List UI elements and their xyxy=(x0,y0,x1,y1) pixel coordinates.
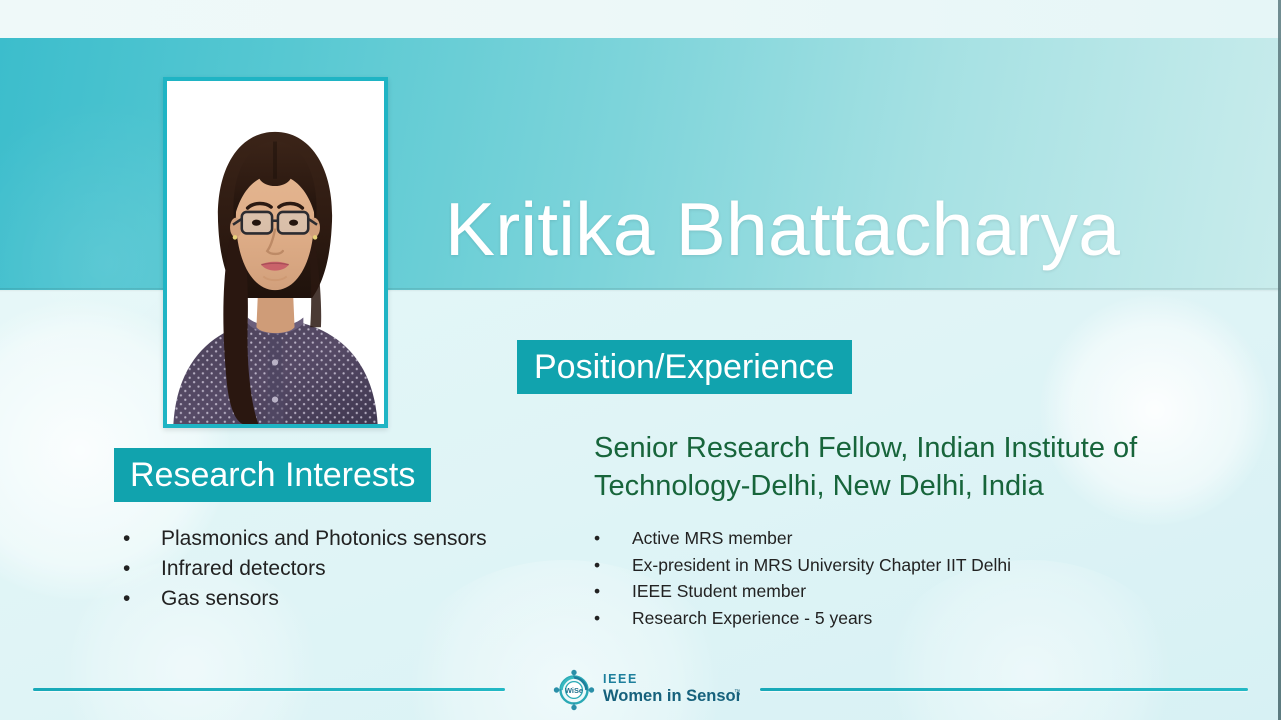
portrait-illustration xyxy=(167,81,384,424)
section-badge-research: Research Interests xyxy=(114,448,431,502)
list-item: Gas sensors xyxy=(114,584,487,614)
logo-ieee-text: IEEE xyxy=(603,672,638,686)
logo-artwork: WiSe IEEE Women in Sensors ™ xyxy=(548,666,740,714)
section-badge-position: Position/Experience xyxy=(517,340,852,394)
list-item: IEEE Student member xyxy=(585,578,1011,605)
footer-rule-right xyxy=(760,688,1248,691)
slide-canvas: Kritika Bhattacharya xyxy=(0,0,1281,720)
logo-women-in-sensors-text: Women in Sensors xyxy=(603,687,740,705)
portrait-photo xyxy=(163,77,388,428)
section-badge-position-label: Position/Experience xyxy=(534,350,835,384)
list-item: Plasmonics and Photonics sensors xyxy=(114,524,487,554)
page-title: Kritika Bhattacharya xyxy=(445,192,1120,267)
list-item: Research Experience - 5 years xyxy=(585,605,1011,632)
ieee-women-in-sensors-logo: WiSe IEEE Women in Sensors ™ xyxy=(548,666,740,714)
research-bullet-list: Plasmonics and Photonics sensors Infrare… xyxy=(114,524,487,615)
list-item: Infrared detectors xyxy=(114,554,487,584)
footer-rule-left xyxy=(33,688,505,691)
list-item: Ex-president in MRS University Chapter I… xyxy=(585,552,1011,579)
top-strip xyxy=(0,0,1281,38)
svg-text:WiSe: WiSe xyxy=(565,686,583,695)
list-item: Active MRS member xyxy=(585,525,1011,552)
wise-mark-icon: WiSe xyxy=(554,670,594,710)
position-bullet-list: Active MRS member Ex-president in MRS Un… xyxy=(585,525,1011,631)
section-badge-research-label: Research Interests xyxy=(130,458,415,492)
logo-trademark-text: ™ xyxy=(734,689,740,696)
affiliation-text: Senior Research Fellow, Indian Institute… xyxy=(594,429,1154,506)
